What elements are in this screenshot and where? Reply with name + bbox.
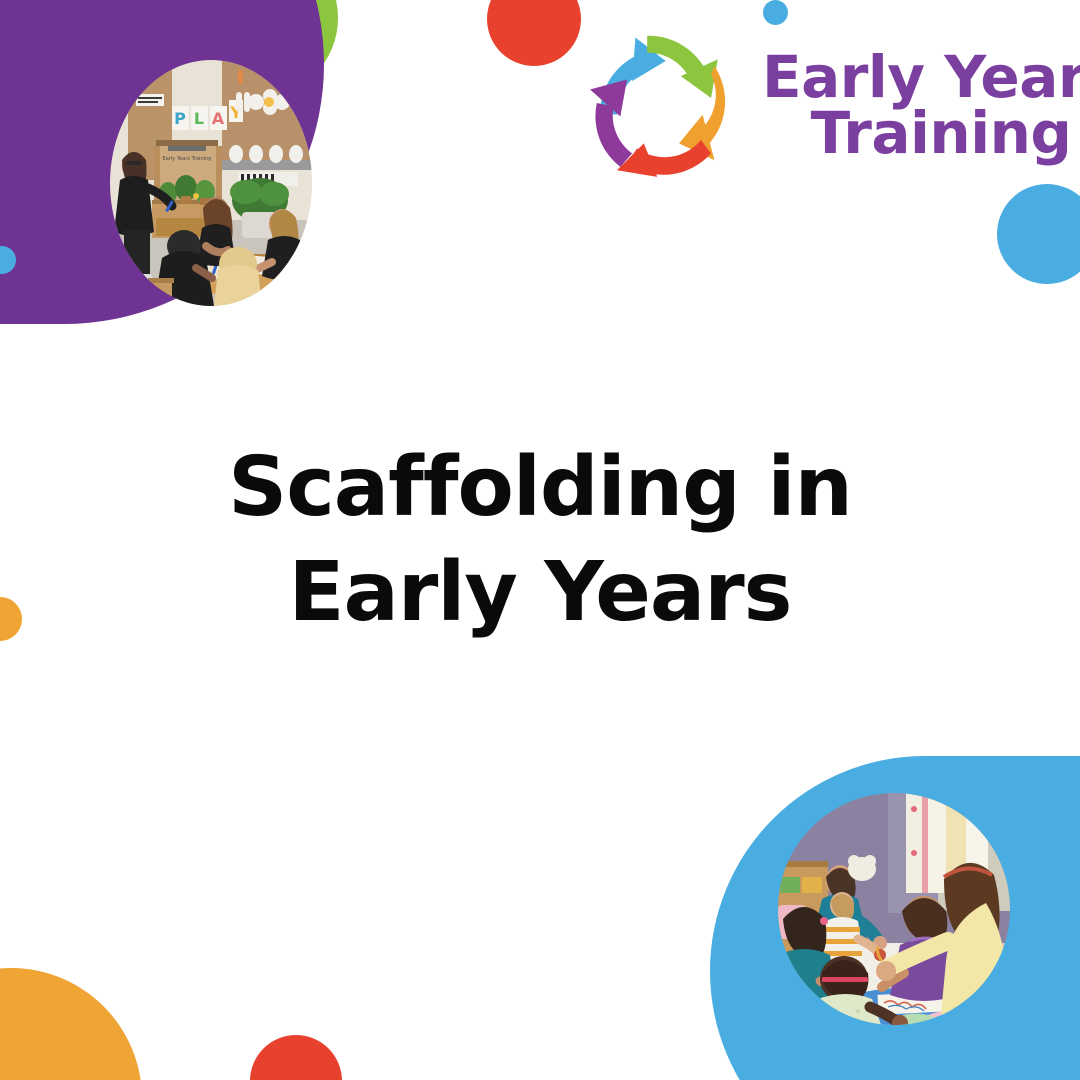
classroom-training-photo: P L A Y	[110, 60, 312, 306]
blue-circle-right	[997, 184, 1080, 284]
svg-text:Early Years Training: Early Years Training	[163, 156, 212, 162]
brand-logo[interactable]: Early Years Training	[580, 18, 1050, 188]
svg-text:P: P	[174, 109, 186, 128]
logo-arrow-green	[647, 36, 718, 98]
logo-text: Early Years Training	[762, 44, 1080, 161]
logo-arrow-red	[617, 140, 711, 177]
svg-text:L: L	[194, 109, 204, 128]
logo-line-2: Training	[762, 106, 1080, 162]
svg-text:A: A	[212, 109, 225, 128]
children-activity-illustration	[778, 793, 1010, 1025]
red-circle-top	[487, 0, 581, 66]
page-title: Scaffolding in Early Years	[140, 436, 940, 646]
classroom-training-illustration: P L A Y	[110, 60, 312, 306]
orange-circle-bottom-left	[0, 968, 142, 1080]
red-circle-bottom	[250, 1035, 342, 1080]
logo-arrow-purple	[590, 79, 632, 166]
orange-dot-left-edge	[0, 597, 22, 641]
logo-line-1: Early Years	[762, 50, 1080, 106]
circular-arrows-logo-icon	[580, 19, 748, 187]
children-activity-photo	[778, 793, 1010, 1025]
poster-canvas: P L A Y	[0, 0, 1080, 1080]
